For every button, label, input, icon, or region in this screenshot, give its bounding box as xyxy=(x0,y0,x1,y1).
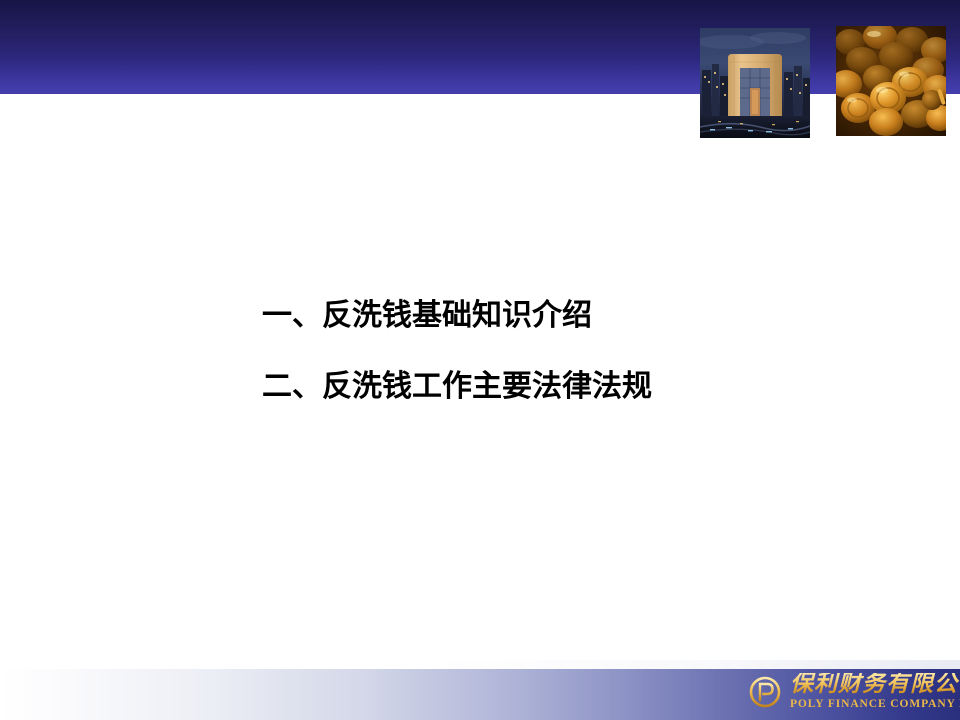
agenda-list: 一、反洗钱基础知识介绍 二、反洗钱工作主要法律法规 xyxy=(262,296,882,407)
city-night-building-photo xyxy=(700,28,810,138)
poly-p-monogram-icon xyxy=(748,675,782,709)
company-name-en: POLY FINANCE COMPANY LIMITED xyxy=(790,699,960,711)
presentation-slide: 一、反洗钱基础知识介绍 二、反洗钱工作主要法律法规 保利财务有限公司 POLY … xyxy=(0,0,960,720)
agenda-item-2: 二、反洗钱工作主要法律法规 xyxy=(262,367,882,407)
gold-coins-photo xyxy=(836,26,946,136)
company-name-cn: 保利财务有限公司 xyxy=(790,673,960,696)
header-band xyxy=(0,0,960,94)
agenda-item-1: 一、反洗钱基础知识介绍 xyxy=(262,296,882,336)
company-logo: 保利财务有限公司 POLY FINANCE COMPANY LIMITED xyxy=(748,673,960,711)
logo-text-block: 保利财务有限公司 POLY FINANCE COMPANY LIMITED xyxy=(790,673,960,711)
